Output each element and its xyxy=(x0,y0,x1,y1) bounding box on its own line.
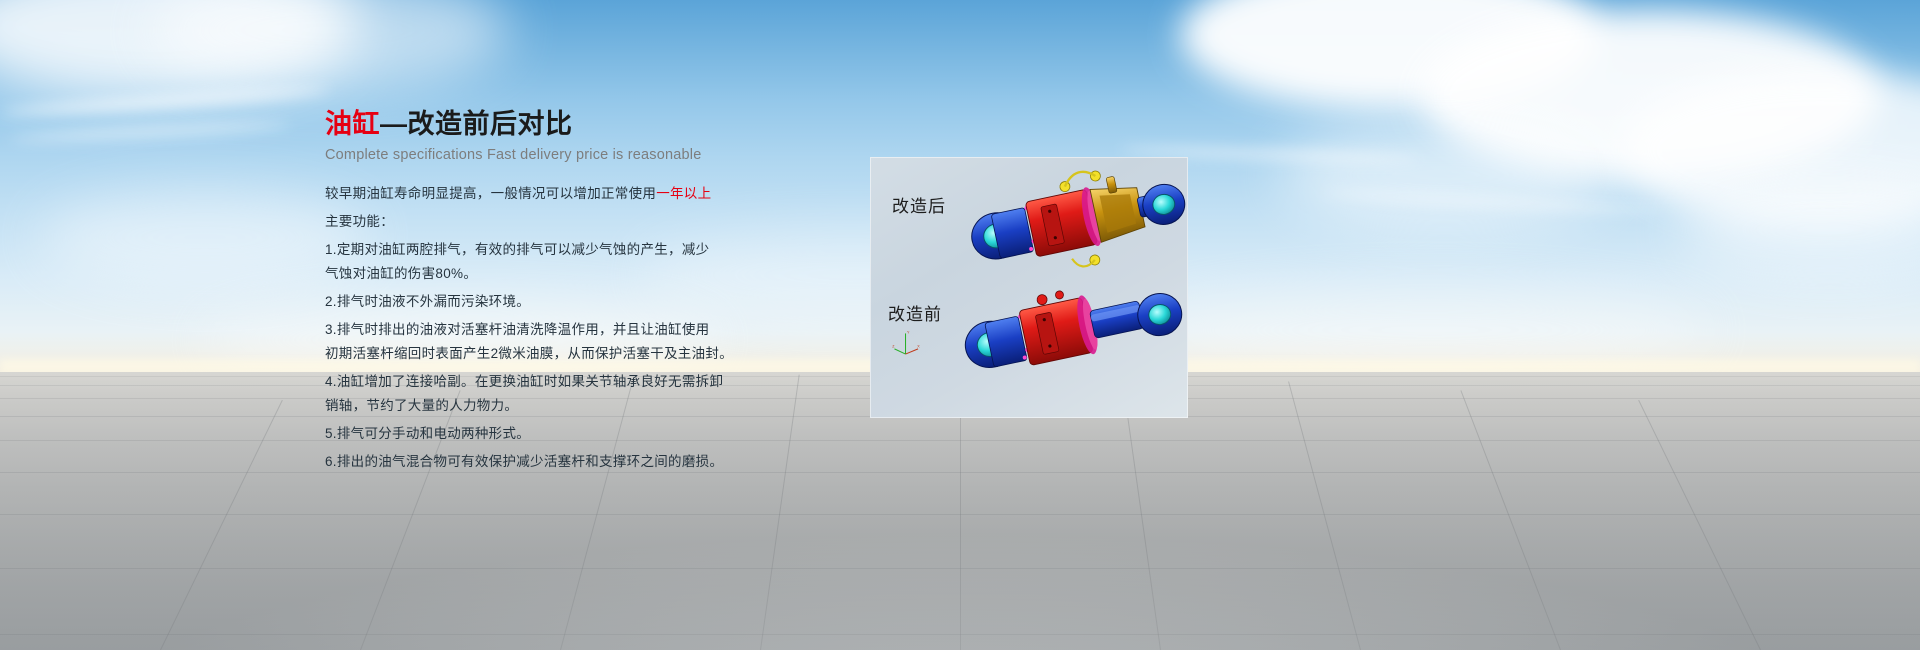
axis-label-x: X xyxy=(917,344,920,348)
description-line: 1.定期对油缸两腔排气，有效的排气可以减少气蚀的产生，减少 xyxy=(325,241,745,260)
description-line: 初期活塞杆缩回时表面产生2微米油膜，从而保护活塞干及主油封。 xyxy=(325,345,745,364)
label-after-modification: 改造后 xyxy=(892,192,946,217)
cylinder-after-render xyxy=(966,167,1188,292)
axis-label-y: Y xyxy=(907,330,910,334)
description-line: 4.油缸增加了连接哈副。在更换油缸时如果关节轴承良好无需拆卸 xyxy=(325,373,745,392)
axis-label-z: Z xyxy=(892,344,895,348)
description-line: 6.排出的油气混合物可有效保护减少活塞杆和支撑环之间的磨损。 xyxy=(325,453,745,472)
description-line: 3.排气时排出的油液对活塞杆油清洗降温作用，并且让油缸使用 xyxy=(325,321,745,340)
page-title-highlight: 油缸 xyxy=(325,109,380,139)
coordinate-axis-icon: Y Z X xyxy=(892,329,922,357)
description-highlight: 一年以上 xyxy=(656,186,711,201)
cloud-shape xyxy=(1150,290,1710,370)
page-title-rest: —改造前后对比 xyxy=(380,109,573,139)
product-comparison-panel: 改造后 改造前 xyxy=(870,157,1188,418)
description-line: 5.排气可分手动和电动两种形式。 xyxy=(325,425,745,444)
cloud-shape xyxy=(1280,120,1610,230)
page-title: 油缸—改造前后对比 xyxy=(325,108,745,140)
description-line: 气蚀对油缸的伤害80%。 xyxy=(325,265,745,284)
feature-description: 较早期油缸寿命明显提高，一般情况可以增加正常使用一年以上 主要功能： 1.定期对… xyxy=(325,185,745,471)
cloud-shape xyxy=(40,190,370,285)
label-before-modification: 改造前 xyxy=(888,300,942,325)
description-line: 主要功能： xyxy=(325,213,745,232)
banner-stage: 油缸—改造前后对比 Complete specifications Fast d… xyxy=(0,0,1920,650)
banner-text-block: 油缸—改造前后对比 Complete specifications Fast d… xyxy=(325,108,745,480)
description-line: 销轴，节约了大量的人力物力。 xyxy=(325,397,745,416)
cylinder-before-render xyxy=(960,277,1188,412)
page-subtitle: Complete specifications Fast delivery pr… xyxy=(325,147,745,163)
description-line: 2.排气时油液不外漏而污染环境。 xyxy=(325,293,745,312)
description-line: 较早期油缸寿命明显提高，一般情况可以增加正常使用一年以上 xyxy=(325,185,745,204)
